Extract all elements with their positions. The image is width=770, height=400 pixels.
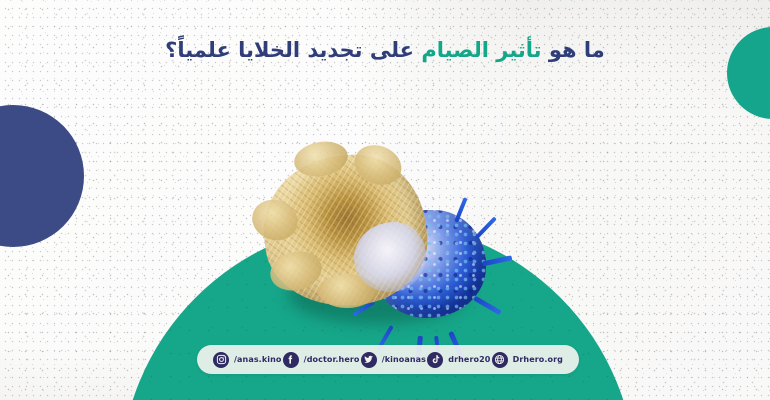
- social-links-bar: /anas.kino /doctor.hero /kinoanas: [197, 345, 579, 374]
- headline-part-after: على تجديد الخلايا علمياً؟: [165, 38, 421, 62]
- twitter-icon: [361, 352, 377, 368]
- headline-accent: تأثير الصيام: [421, 38, 541, 62]
- blue-cell-spike: [475, 216, 497, 239]
- social-handle-instagram: /anas.kino: [234, 355, 281, 364]
- website-globe-icon: [492, 352, 508, 368]
- social-handle-twitter: /kinoanas: [382, 355, 426, 364]
- social-link-website[interactable]: Drhero.org: [492, 352, 563, 368]
- social-handle-website: Drhero.org: [513, 355, 563, 364]
- facebook-icon: [283, 352, 299, 368]
- social-link-twitter[interactable]: /kinoanas: [361, 352, 426, 368]
- social-handle-facebook: /doctor.hero: [304, 355, 360, 364]
- social-link-facebook[interactable]: /doctor.hero: [283, 352, 360, 368]
- social-media-poster: ما هو تأثير الصيام على تجديد الخلايا علم…: [0, 0, 770, 400]
- cell-micrograph-image: [258, 148, 496, 344]
- tiktok-icon: [427, 352, 443, 368]
- instagram-icon: [213, 352, 229, 368]
- social-handle-tiktok: drhero20: [448, 355, 490, 364]
- headline-part-before: ما هو: [542, 38, 605, 62]
- social-link-instagram[interactable]: /anas.kino: [213, 352, 281, 368]
- cell-contact-zone: [354, 222, 426, 292]
- social-link-tiktok[interactable]: drhero20: [427, 352, 490, 368]
- page-title: ما هو تأثير الصيام على تجديد الخلايا علم…: [0, 38, 770, 62]
